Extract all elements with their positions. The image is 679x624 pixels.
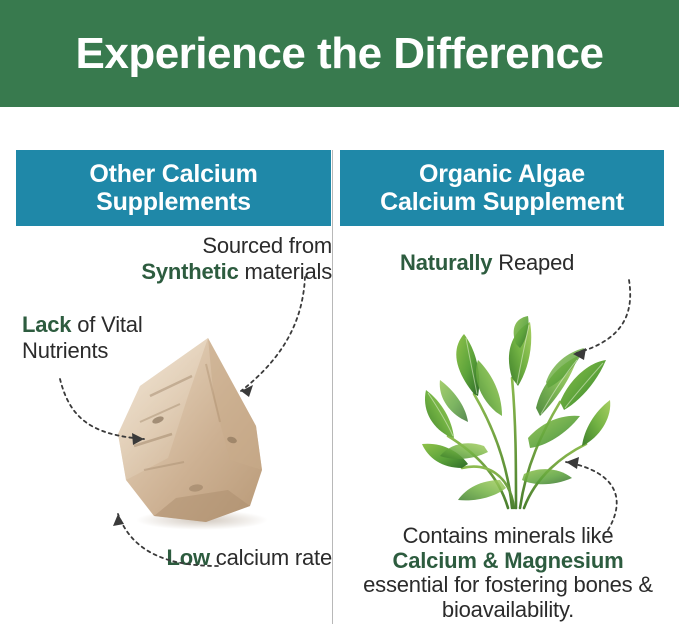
arrow-lack-to-rock [58, 375, 168, 470]
callout-naturally-reaped: Naturally Reaped [400, 250, 660, 276]
callout-lack-emphasis: Lack [22, 312, 71, 337]
callout-naturally-emphasis: Naturally [400, 250, 492, 275]
callout-low-tail: calcium rate [210, 545, 332, 570]
callout-sourced-lead: Sourced from [202, 233, 332, 258]
callout-contains-tail: essential for fostering bones & bioavail… [363, 572, 653, 622]
arrow-sourced-to-rock [225, 275, 335, 400]
column-header-organic-algae: Organic Algae Calcium Supplement [340, 150, 664, 226]
callout-contains-minerals: Contains minerals like Calcium & Magnesi… [358, 524, 658, 623]
arrow-contains-to-algae [538, 438, 653, 533]
column-header-right-line1: Organic Algae [380, 160, 624, 188]
column-header-left-line1: Other Calcium [89, 160, 257, 188]
column-header-left-line2: Supplements [89, 188, 257, 216]
callout-naturally-tail: Reaped [492, 250, 574, 275]
arrow-low-to-rock [108, 510, 223, 585]
arrow-naturally-to-algae [565, 278, 675, 378]
column-header-other-calcium: Other Calcium Supplements [16, 150, 331, 226]
comparison-infographic: Experience the Difference Other Calcium … [0, 0, 679, 624]
header-banner: Experience the Difference [0, 0, 679, 107]
column-header-right-line2: Calcium Supplement [380, 188, 624, 216]
callout-contains-emphasis: Calcium & Magnesium [393, 548, 624, 573]
page-title: Experience the Difference [76, 32, 604, 76]
